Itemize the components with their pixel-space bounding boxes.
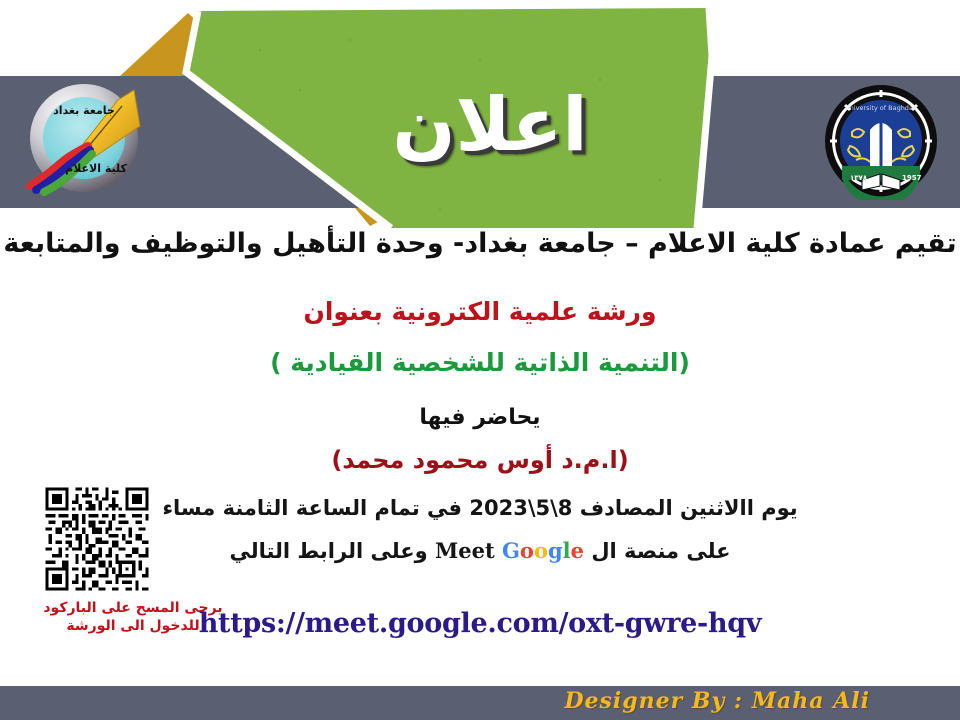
qr-code-image[interactable] — [42, 484, 152, 594]
google-wordmark: Google — [502, 538, 584, 563]
seal-english-text: University of Baghdad — [845, 104, 917, 112]
white-top-left — [0, 0, 120, 76]
platform-suffix-text: وعلى الرابط التالي — [229, 539, 427, 563]
qr-caption-line-1: يرجى المسح على الباركود — [18, 600, 248, 618]
announcement-poster: جامعة بغداد كلية الاعلام — [0, 0, 960, 720]
white-top-right — [712, 0, 960, 76]
workshop-title-line: ورشة علمية الكترونية بعنوان — [0, 297, 960, 326]
qr-caption-line-2: للدخول الى الورشة — [18, 618, 248, 636]
page-title: اعلان — [340, 88, 640, 162]
seal-year-hijri: ١٣٧٨ — [850, 174, 868, 182]
university-of-baghdad-seal: ١٣٧٨ 1957 University of Baghdad — [822, 82, 940, 200]
designer-credit: Designer By : Maha Ali — [0, 688, 960, 714]
seal-year-gregorian: 1957 — [902, 174, 922, 182]
qr-code-caption: يرجى المسح على الباركود للدخول الى الورش… — [18, 600, 248, 635]
lecturer-name: (ا.م.د أوس محمود محمد) — [0, 446, 960, 474]
lecturer-label: يحاضر فيها — [0, 405, 960, 430]
college-of-media-logo: جامعة بغداد كلية الاعلام — [22, 78, 146, 202]
meet-wordmark: Meet — [435, 538, 495, 563]
logo-college-text: كلية الاعلام — [65, 162, 127, 175]
workshop-subject-line: (التنمية الذاتية للشخصية القيادية ) — [0, 348, 960, 377]
platform-prefix-text: على منصة ال — [591, 539, 730, 563]
qr-code-block: يرجى المسح على الباركود للدخول الى الورش… — [18, 484, 248, 635]
logo-university-text: جامعة بغداد — [53, 104, 115, 117]
organizer-line: تقيم عمادة كلية الاعلام – جامعة بغداد- و… — [0, 228, 960, 259]
